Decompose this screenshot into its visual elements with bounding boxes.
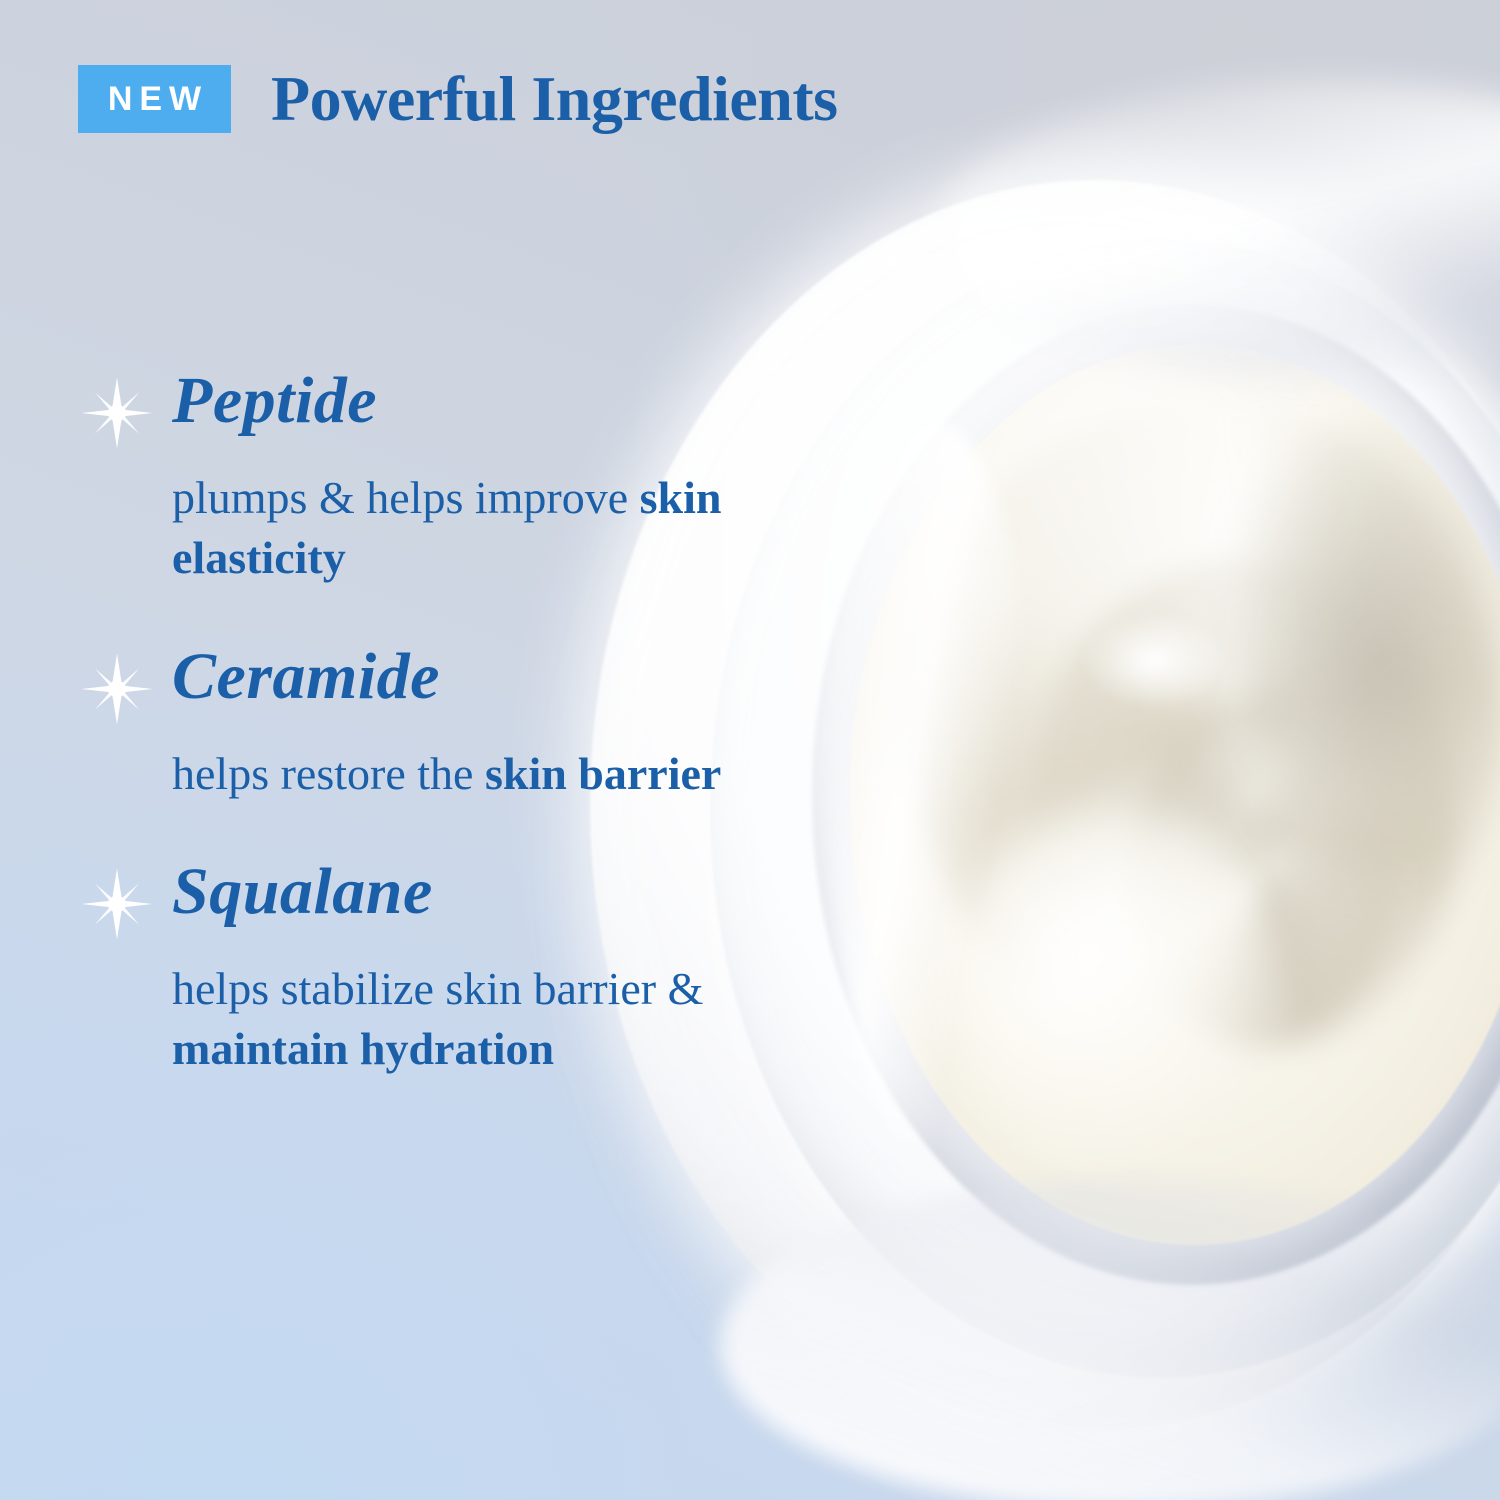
ingredient-description: plumps & helps improve skin elasticity [172, 468, 732, 588]
desc-plain: helps restore the [172, 748, 485, 799]
desc-bold: skin barrier [485, 748, 721, 799]
desc-plain: plumps & helps improve [172, 472, 640, 523]
cream-swirl-vortex [1126, 705, 1402, 1047]
cream-highlight-peak [947, 813, 1278, 1173]
desc-bold: maintain hydration [172, 1023, 554, 1074]
ingredient-list: Peptide plumps & helps improve skin elas… [0, 368, 760, 1135]
jar-wall-reflection [828, 420, 1038, 1160]
jar-top-blur-sweep [940, 80, 1500, 380]
jar-inner-lip [812, 305, 1500, 1285]
sparkle-star-icon [80, 867, 154, 941]
ingredient-item: Ceramide helps restore the skin barrier [0, 644, 760, 804]
page-title: Powerful Ingredients [271, 62, 838, 136]
sparkle-star-icon [80, 376, 154, 450]
cream-surface [850, 345, 1500, 1245]
cream-swirl-outer [905, 399, 1498, 1047]
ingredient-name: Squalane [172, 859, 760, 925]
cream-shadow-region [1223, 417, 1500, 885]
cream-swirl-middle [1029, 561, 1457, 1065]
jar-bottom-edge [720, 1180, 1500, 1500]
ingredient-item: Squalane helps stabilize skin barrier & … [0, 859, 760, 1079]
ingredient-name: Ceramide [172, 644, 760, 710]
ingredient-description: helps stabilize skin barrier & maintain … [172, 959, 732, 1079]
ingredient-item: Peptide plumps & helps improve skin elas… [0, 368, 760, 588]
banner-header: NEW Powerful Ingredients [78, 62, 838, 136]
ingredient-description: helps restore the skin barrier [172, 744, 732, 804]
new-badge: NEW [78, 65, 231, 133]
sparkle-star-icon [80, 652, 154, 726]
desc-plain: helps stabilize skin barrier & [172, 963, 703, 1014]
cream-specular-highlight [1085, 615, 1223, 705]
ingredient-name: Peptide [172, 368, 760, 434]
jar-second-rim [710, 238, 1500, 1378]
product-feature-banner: NEW Powerful Ingredients Peptide plumps … [0, 0, 1500, 1500]
